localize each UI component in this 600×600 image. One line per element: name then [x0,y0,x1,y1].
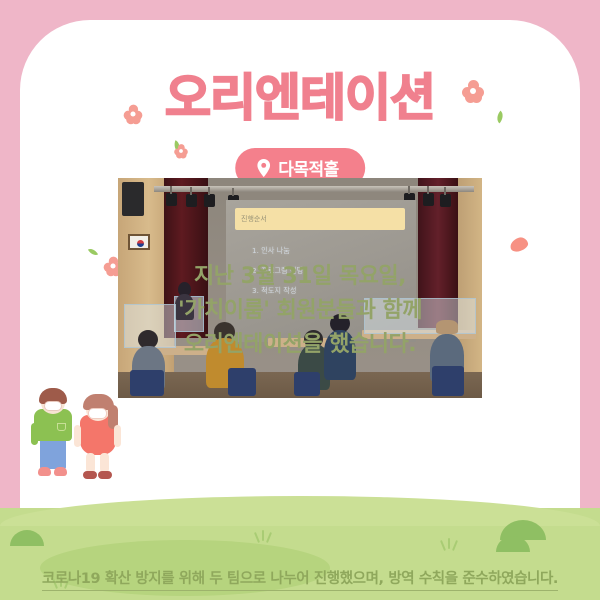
boy-mask [44,401,62,411]
girl-arm [74,425,81,447]
footer-banner: 코로나19 확산 방지를 위해 두 팀으로 나누어 진행했으며, 방역 수칙을 … [0,567,600,588]
girl-leg [86,453,95,473]
body-line: '가치이룸' 회원분들과 함께 [100,294,500,328]
photo-stage-light [204,194,215,207]
photo-stage-light [186,194,197,207]
photo-stage-light [423,193,434,206]
grass-tuft [438,538,460,552]
social-card: 오리엔테이션 다목적홀 진행 [0,0,600,600]
photo-stage-light [440,194,451,207]
body-text: 지난 3월 31일 목요일, '가치이룸' 회원분들과 함께 오리엔테이션을 했… [100,260,500,362]
photo-korean-flag [128,234,150,250]
photo-stage-light [166,193,177,206]
photo-chair [432,366,464,396]
photo-light-truss [154,186,474,192]
flower-icon [174,144,188,158]
photo-chair [130,370,164,396]
girl-mask [88,408,107,419]
girl-shoe [83,471,97,479]
photo-speaker [122,182,144,216]
slide-item: 1. 인사 나눔 [252,246,290,256]
location-badge-label: 다목적홀 [278,155,339,180]
footer-banner-label: 코로나19 확산 방지를 위해 두 팀으로 나누어 진행했으며, 방역 수칙을 … [42,571,558,591]
grass-landscape: 코로나19 확산 방지를 위해 두 팀으로 나누어 진행했으며, 방역 수칙을 … [0,508,600,600]
boy-pocket [57,423,66,431]
grass-tuft [252,530,274,544]
slide-heading: 진행순서 [235,208,405,230]
girl-arm [114,425,121,447]
map-pin-icon [257,159,270,177]
boy-arm [31,423,38,445]
girl-leg [100,453,109,473]
body-line: 오리엔테이션을 했습니다. [100,328,500,362]
girl-shoe [98,471,112,479]
petal-icon [508,236,529,254]
photo-chair [294,372,320,396]
bush-shape [10,530,44,546]
photo-chair [228,368,256,396]
page-title: 오리엔테이션 [20,72,580,125]
leaf-icon [88,246,98,257]
boy-shoe [38,467,51,476]
body-line: 지난 3월 31일 목요일, [100,260,500,294]
boy-shoe [54,467,67,476]
